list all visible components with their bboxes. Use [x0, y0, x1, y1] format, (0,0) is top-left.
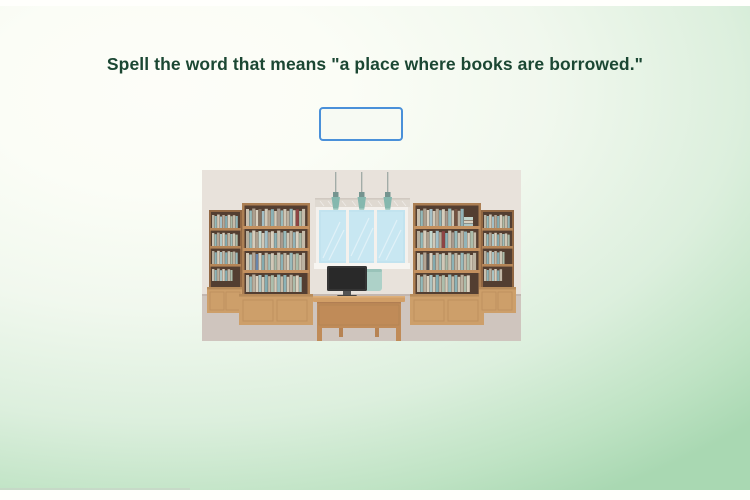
page-title: Spell the word that means "a place where… — [0, 54, 750, 75]
bottom-edge-band — [0, 490, 750, 500]
library-scene-svg — [202, 170, 521, 341]
top-edge-band — [0, 0, 750, 6]
answer-input[interactable] — [319, 107, 403, 141]
exercise-screen: Spell the word that means "a place where… — [0, 0, 750, 500]
library-room-illustration — [202, 170, 521, 341]
grain-overlay — [202, 170, 521, 341]
